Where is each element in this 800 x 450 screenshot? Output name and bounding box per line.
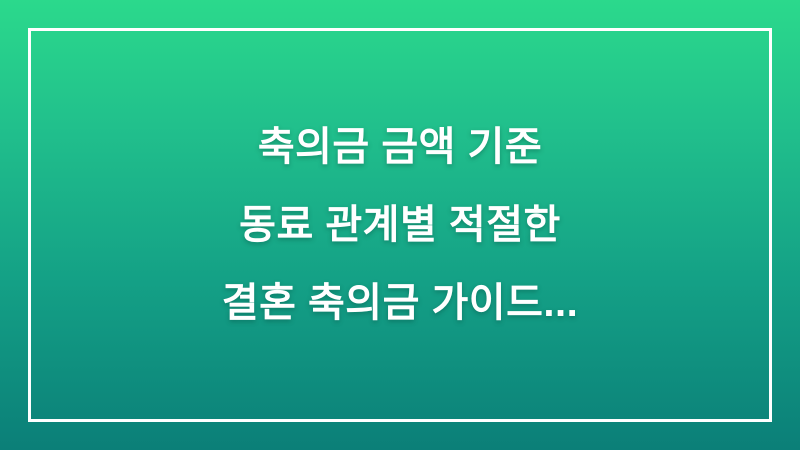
title-block: 축의금 금액 기준 동료 관계별 적절한 결혼 축의금 가이드...	[0, 108, 800, 342]
title-line-1: 축의금 금액 기준	[70, 108, 730, 186]
thumbnail-card: 축의금 금액 기준 동료 관계별 적절한 결혼 축의금 가이드...	[0, 0, 800, 450]
title-line-3: 결혼 축의금 가이드...	[70, 264, 730, 342]
title-line-2: 동료 관계별 적절한	[70, 186, 730, 264]
